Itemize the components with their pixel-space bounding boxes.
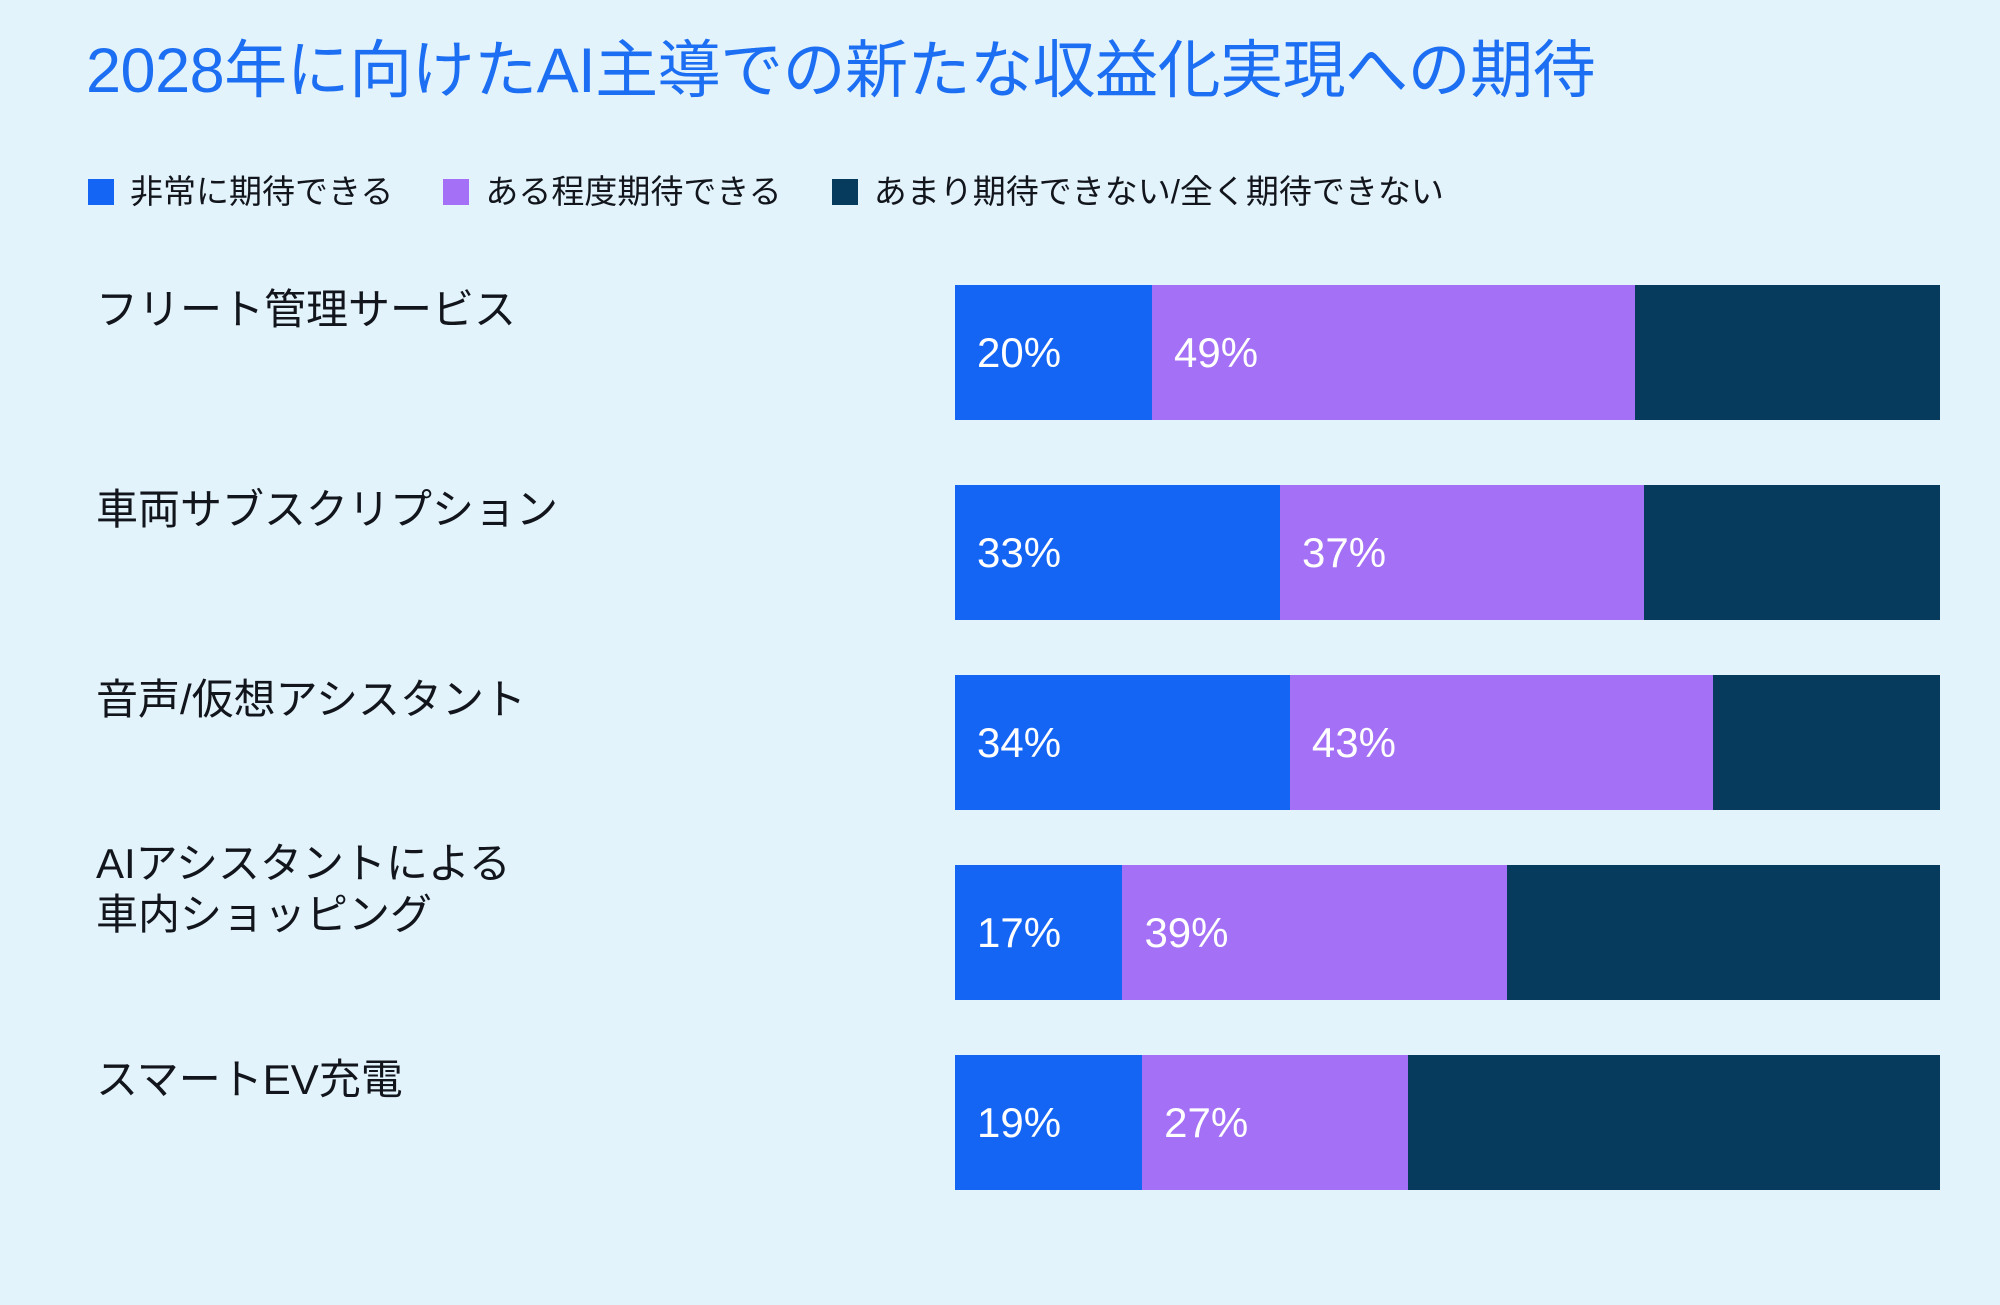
bar-value-very-positive: 17% xyxy=(955,912,1061,954)
category-label: 車両サブスクリプション xyxy=(96,484,916,535)
category-label: フリート管理サービス xyxy=(96,284,916,335)
legend-swatch-icon-blue xyxy=(88,179,114,205)
bar-segment-somewhat-positive[interactable]: 27% xyxy=(1142,1055,1408,1190)
bar-segment-negative[interactable] xyxy=(1408,1055,1940,1190)
stacked-bar: 33% 37% xyxy=(955,485,1940,620)
bar-segment-somewhat-positive[interactable]: 39% xyxy=(1122,865,1506,1000)
stacked-bar: 20% 49% xyxy=(955,285,1940,420)
bar-segment-very-positive[interactable]: 33% xyxy=(955,485,1280,620)
legend-label-very-positive: 非常に期待できる xyxy=(130,175,393,208)
bar-segment-negative[interactable] xyxy=(1507,865,1940,1000)
bar-segment-somewhat-positive[interactable]: 43% xyxy=(1290,675,1714,810)
bar-value-somewhat-positive: 27% xyxy=(1142,1102,1248,1144)
legend-swatch-icon-purple xyxy=(443,179,469,205)
legend-item-negative[interactable]: あまり期待できない/全く期待できない xyxy=(832,175,1444,208)
stacked-bar: 17% 39% xyxy=(955,865,1940,1000)
bar-value-somewhat-positive: 49% xyxy=(1152,332,1258,374)
bar-segment-somewhat-positive[interactable]: 49% xyxy=(1152,285,1635,420)
legend-item-very-positive[interactable]: 非常に期待できる xyxy=(88,175,393,208)
bar-value-very-positive: 20% xyxy=(955,332,1061,374)
chart-plot-area: フリート管理サービス 20% 49% 車両サブスクリプション 33% 37% xyxy=(0,285,2000,1285)
bar-value-very-positive: 33% xyxy=(955,532,1061,574)
stacked-bar: 34% 43% xyxy=(955,675,1940,810)
chart-row: 音声/仮想アシスタント 34% 43% xyxy=(0,630,2000,810)
bar-segment-very-positive[interactable]: 34% xyxy=(955,675,1290,810)
chart-row: フリート管理サービス 20% 49% xyxy=(0,240,2000,420)
bar-segment-negative[interactable] xyxy=(1713,675,1940,810)
legend-label-negative: あまり期待できない/全く期待できない xyxy=(874,175,1444,208)
bar-segment-very-positive[interactable]: 17% xyxy=(955,865,1122,1000)
category-label: スマートEV充電 xyxy=(96,1054,916,1105)
bar-value-somewhat-positive: 39% xyxy=(1122,912,1228,954)
chart-row: 車両サブスクリプション 33% 37% xyxy=(0,440,2000,620)
bar-segment-very-positive[interactable]: 19% xyxy=(955,1055,1142,1190)
bar-value-somewhat-positive: 43% xyxy=(1290,722,1396,764)
chart-row: AIアシスタントによる 車内ショッピング 17% 39% xyxy=(0,820,2000,1000)
chart-legend: 非常に期待できる ある程度期待できる あまり期待できない/全く期待できない xyxy=(88,175,1444,208)
chart-page: 2028年に向けたAI主導での新たな収益化実現への期待 非常に期待できる ある程… xyxy=(0,0,2000,1305)
legend-label-somewhat-positive: ある程度期待できる xyxy=(485,175,781,208)
bar-segment-somewhat-positive[interactable]: 37% xyxy=(1280,485,1644,620)
bar-segment-negative[interactable] xyxy=(1644,485,1940,620)
legend-item-somewhat-positive[interactable]: ある程度期待できる xyxy=(443,175,781,208)
chart-row: スマートEV充電 19% 27% xyxy=(0,1010,2000,1190)
bar-segment-very-positive[interactable]: 20% xyxy=(955,285,1152,420)
bar-value-very-positive: 34% xyxy=(955,722,1061,764)
bar-value-very-positive: 19% xyxy=(955,1102,1061,1144)
bar-segment-negative[interactable] xyxy=(1635,285,1940,420)
stacked-bar: 19% 27% xyxy=(955,1055,1940,1190)
bar-value-somewhat-positive: 37% xyxy=(1280,532,1386,574)
category-label: AIアシスタントによる 車内ショッピング xyxy=(96,838,916,940)
page-title: 2028年に向けたAI主導での新たな収益化実現への期待 xyxy=(86,38,1595,104)
legend-swatch-icon-navy xyxy=(832,179,858,205)
category-label: 音声/仮想アシスタント xyxy=(96,674,916,725)
